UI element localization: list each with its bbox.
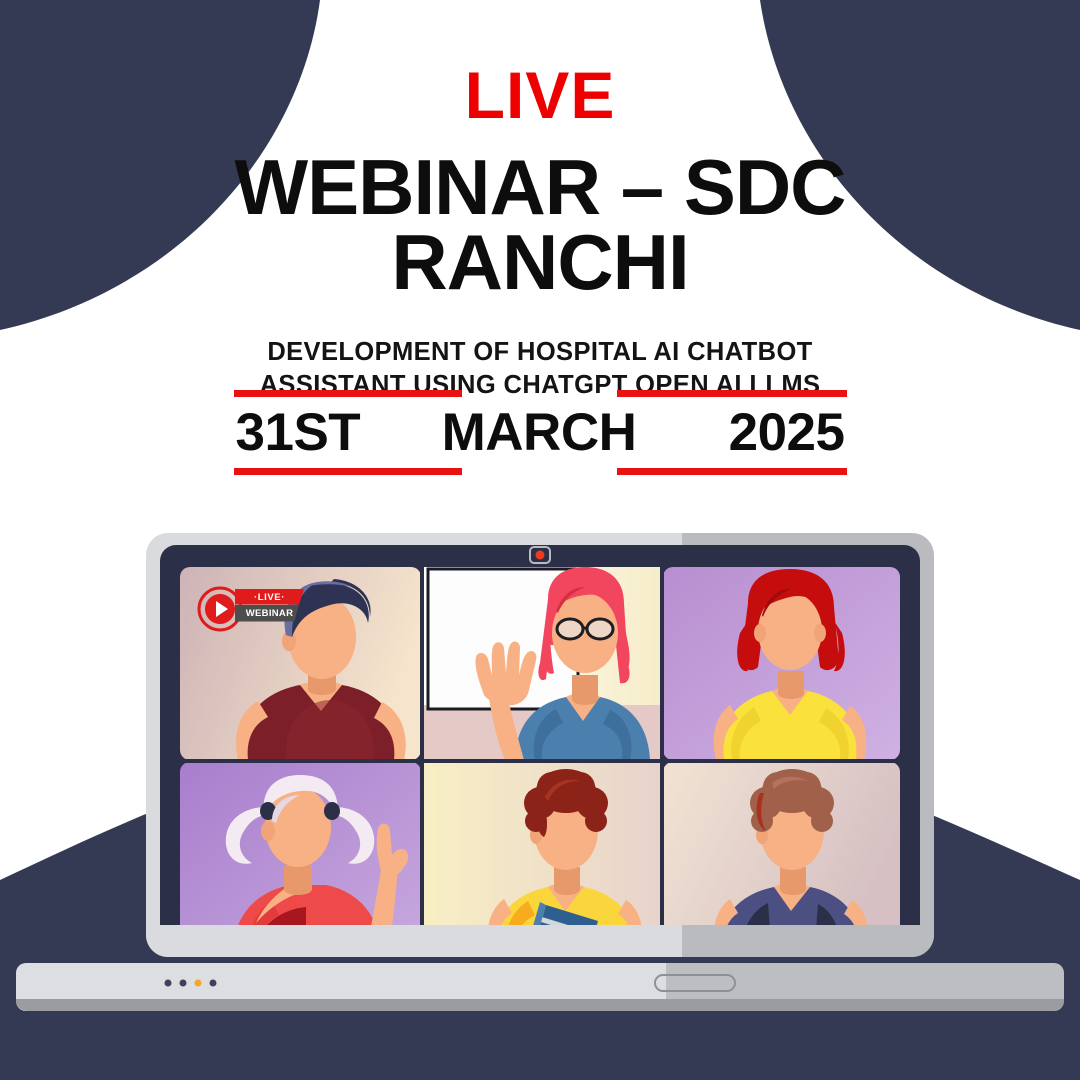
hair-tie-right bbox=[324, 802, 340, 820]
subtitle-line-1: DEVELOPMENT OF HOSPITAL AI CHATBOT bbox=[0, 336, 1080, 369]
event-date: 31ST MARCH 2025 bbox=[0, 390, 1080, 475]
badge-banners: ·LIVE· WEBINAR bbox=[235, 589, 304, 622]
date-day-group: 31ST bbox=[234, 390, 462, 475]
date-day: 31ST bbox=[234, 406, 361, 459]
webcam-recording-dot bbox=[536, 551, 545, 560]
laptop-illustration bbox=[0, 525, 1080, 1035]
date-month-group: MARCH bbox=[462, 390, 617, 475]
live-label: LIVE bbox=[0, 62, 1080, 128]
laptop-base-shadow bbox=[16, 999, 1064, 1011]
date-month: MARCH bbox=[442, 406, 637, 459]
laptop-lid-bottom bbox=[146, 925, 934, 957]
date-year: 2025 bbox=[729, 406, 847, 459]
participant-tile-2[interactable] bbox=[423, 567, 661, 760]
date-year-group: 2025 bbox=[617, 390, 847, 475]
badge-webinar-text: WEBINAR bbox=[235, 605, 304, 622]
badge-live-text: ·LIVE· bbox=[235, 589, 304, 605]
live-webinar-badge[interactable]: ·LIVE· WEBINAR bbox=[196, 584, 306, 632]
page-title: WEBINAR – SDC RANCHI bbox=[0, 150, 1080, 300]
participant-tile-3[interactable] bbox=[663, 567, 900, 760]
poster-header: LIVE WEBINAR – SDC RANCHI DEVELOPMENT OF… bbox=[0, 0, 1080, 402]
